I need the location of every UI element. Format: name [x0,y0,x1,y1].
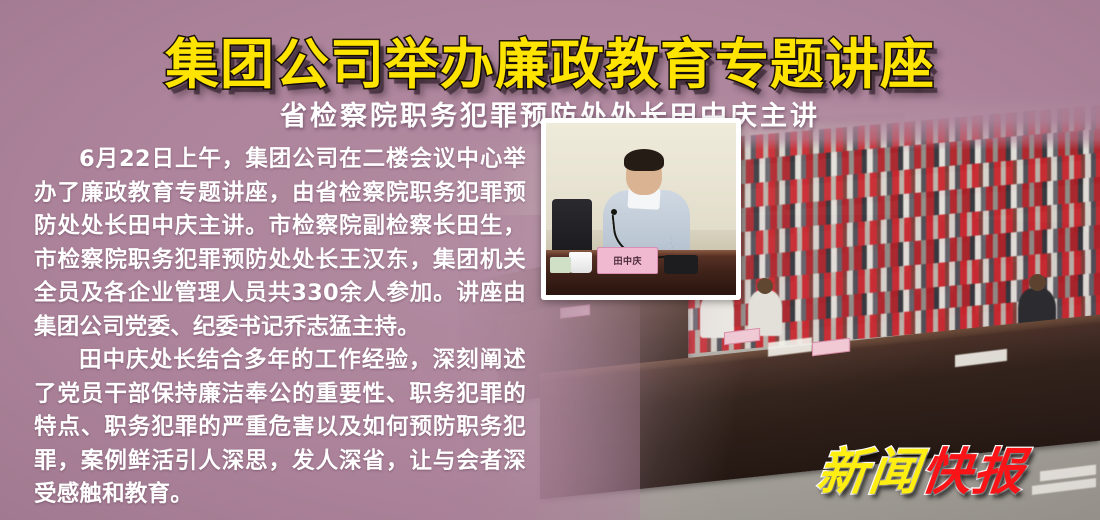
microphone-head-icon [611,209,617,215]
photo-speaker-hair [624,149,664,171]
page-title: 集团公司举办廉政教育专题讲座 [0,20,1100,99]
article-paragraph-2: 田中庆处长结合多年的工作经验，深刻阐述了党员干部保持廉洁奉公的重要性、职务犯罪的… [34,344,526,512]
speaker-photo-frame: 田中庆 [541,118,741,300]
news-banner: 集团公司举办廉政教育专题讲座 省检察院职务犯罪预防处处长田中庆主讲 6月22日上… [0,0,1100,520]
news-flash-yellow-text: 新闻 [814,443,925,501]
photo-cup [569,252,592,273]
news-flash-red-text: 快报 [918,443,1029,501]
speaker-photo: 田中庆 [546,123,736,295]
photo-nameplate-label: 田中庆 [613,254,642,267]
photo-nameplate: 田中庆 [597,247,658,275]
news-flash-logo: 新闻快报 [814,432,1031,504]
photo-box [550,257,571,272]
photo-device [664,255,698,274]
article-body: 6月22日上午，集团公司在二楼会议中心举办了廉政教育专题讲座，由省检察院职务犯罪… [34,143,526,512]
article-paragraph-1: 6月22日上午，集团公司在二楼会议中心举办了廉政教育专题讲座，由省检察院职务犯罪… [34,143,526,344]
photo-chair [552,199,592,257]
